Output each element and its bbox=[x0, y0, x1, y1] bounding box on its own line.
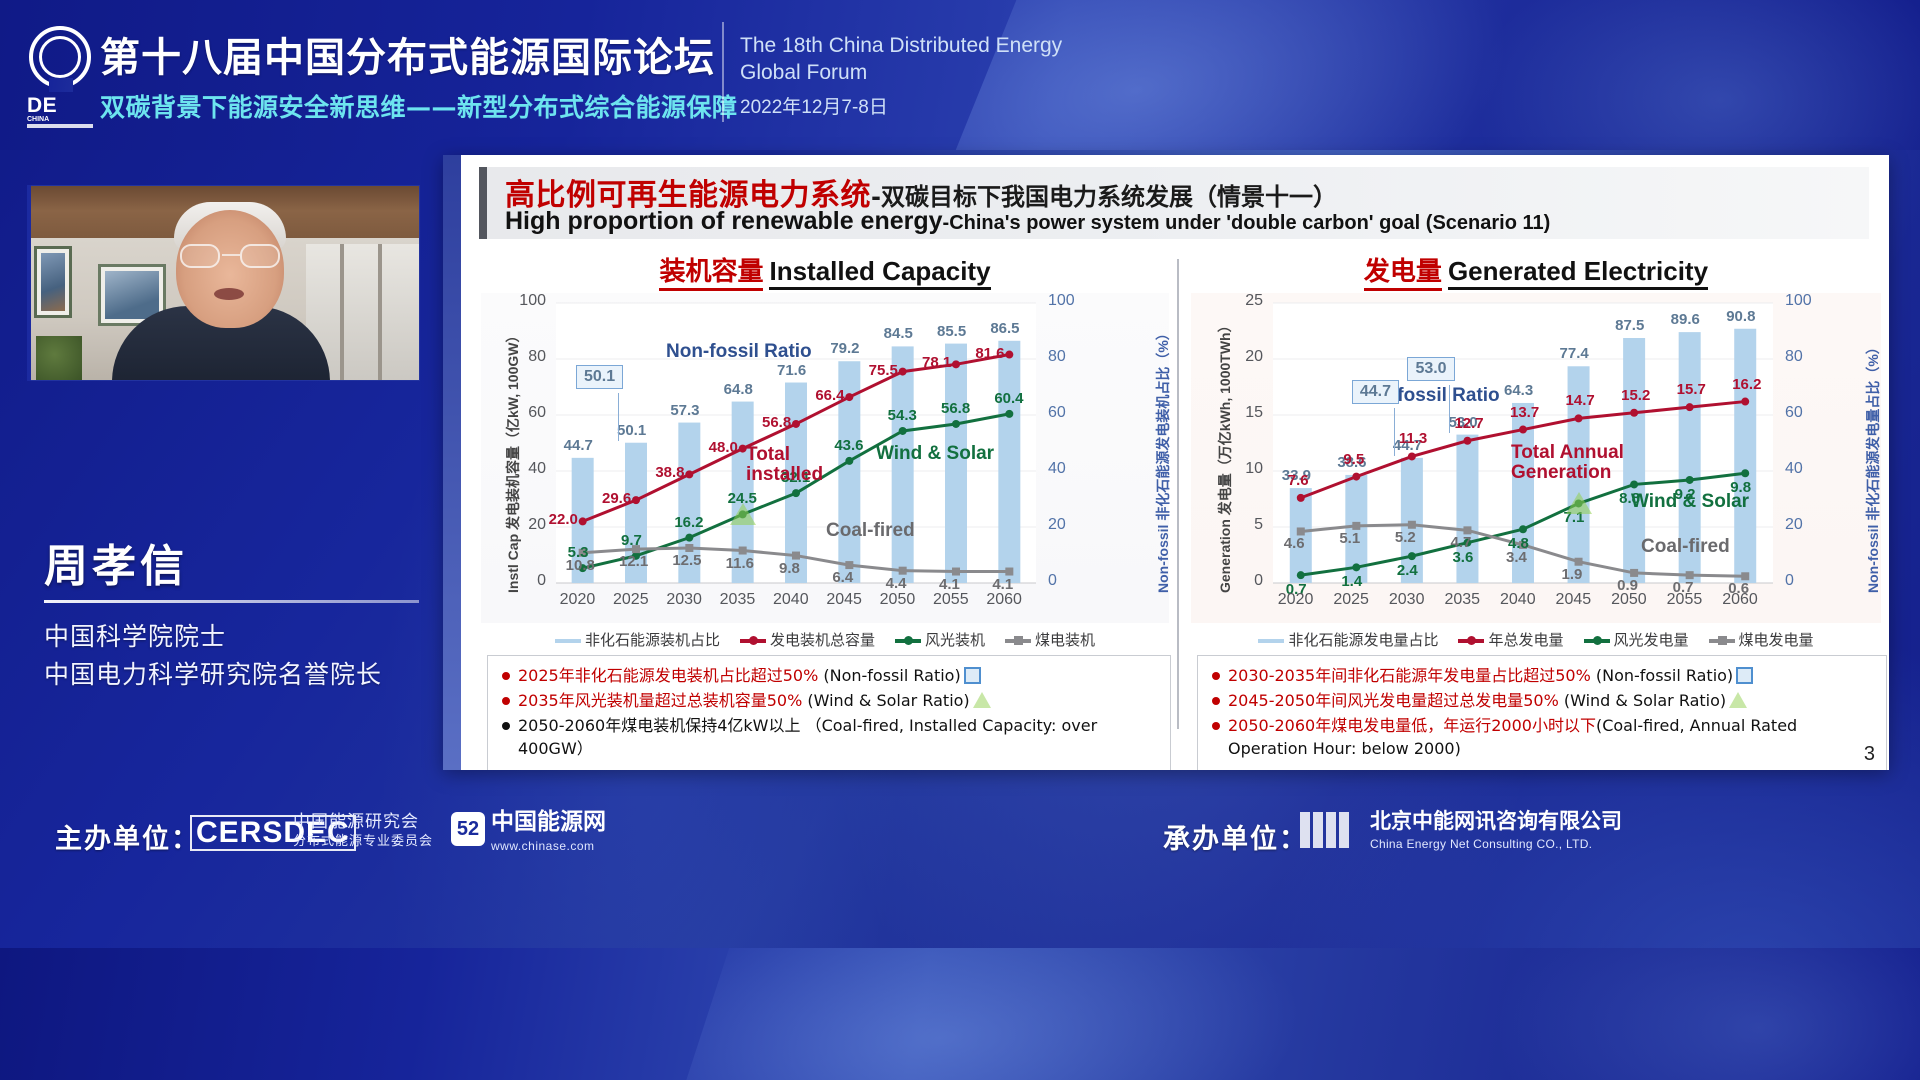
line-value-label: 43.6 bbox=[834, 437, 863, 454]
y-tick-right: 40 bbox=[1048, 460, 1082, 478]
presentation-slide[interactable]: 高比例可再生能源电力系统-双碳目标下我国电力系统发展（情景十一） High pr… bbox=[443, 155, 1889, 770]
bullet-item: 2025年非化石能源发电装机占比超过50% (Non-fossil Ratio) bbox=[498, 664, 1162, 687]
chart-title-en: Installed Capacity bbox=[769, 256, 990, 290]
organizer-name: 北京中能网讯咨询有限公司 China Energy Net Consulting… bbox=[1370, 810, 1622, 856]
bullet-text: 50% bbox=[767, 691, 803, 710]
x-tick: 2035 bbox=[720, 591, 756, 609]
bullet-item: 2050-2060年煤电装机保持4亿kW以上 （Coal-fired, Inst… bbox=[498, 714, 1162, 760]
x-tick: 2045 bbox=[1556, 591, 1592, 609]
slide-title-en: High proportion of renewable energy-Chin… bbox=[505, 207, 1550, 236]
legend-swatch bbox=[895, 639, 921, 643]
bullet-text: (Wind & Solar Ratio) bbox=[802, 691, 969, 710]
chinase-cn: 中国能源网 bbox=[491, 809, 606, 835]
callout-box: 44.7 bbox=[1352, 380, 1399, 404]
line-value-label: 22.0 bbox=[549, 511, 578, 528]
bar-value-label: 57.3 bbox=[670, 402, 699, 419]
line-value-label: 4.6 bbox=[1284, 535, 1305, 552]
line-value-label: 60.4 bbox=[994, 390, 1023, 407]
bar-value-label: 89.6 bbox=[1671, 311, 1700, 328]
line-value-label: 16.2 bbox=[674, 514, 703, 531]
legend-item[interactable]: 非化石能源发电量占比 bbox=[1258, 629, 1438, 650]
x-tick: 2020 bbox=[560, 591, 596, 609]
x-tick: 2060 bbox=[986, 591, 1022, 609]
line-value-label: 12.5 bbox=[672, 552, 701, 569]
line-value-label: 54.3 bbox=[888, 407, 917, 424]
legend-item[interactable]: 风光装机 bbox=[895, 629, 985, 650]
y-tick-right: 100 bbox=[1048, 292, 1082, 310]
bullet-text: 2050-2060年煤电装机保持4亿kW以上 （Coal-fired, Inst… bbox=[518, 716, 1097, 758]
chinase-logo-icon: 52 bbox=[451, 812, 485, 846]
line-value-label: 66.4 bbox=[815, 387, 844, 404]
bullet-text: 年运行2000小时以下 bbox=[1443, 716, 1596, 735]
bar-value-label: 50.1 bbox=[617, 422, 646, 439]
forum-logo-icon: DE CHINA bbox=[27, 20, 95, 128]
line-value-label: 15.7 bbox=[1677, 381, 1706, 398]
bar-value-label: 85.5 bbox=[937, 323, 966, 340]
y-axis-label-right-chart: Non-fossil 非化石能源发电量占比（%） bbox=[1863, 340, 1883, 593]
organizer-name-en: China Energy Net Consulting CO., LTD. bbox=[1370, 833, 1622, 856]
organizer-name-cn: 北京中能网讯咨询有限公司 bbox=[1370, 809, 1622, 833]
speaker-title-line-1: 中国科学院院士 bbox=[44, 618, 382, 656]
line-value-label: 13.7 bbox=[1510, 404, 1539, 421]
speaker-glasses-icon bbox=[180, 244, 282, 268]
slide-accent-bar bbox=[443, 155, 461, 770]
line-value-label: 15.2 bbox=[1621, 387, 1650, 404]
chart-title-cn: 装机容量 bbox=[659, 257, 763, 291]
speaker-mouth bbox=[214, 288, 244, 300]
bullet-text: 50% bbox=[1523, 691, 1559, 710]
y-axis-label-right-chart: Non-fossil 非化石能源发电装机占比（%） bbox=[1153, 326, 1173, 593]
line-value-label: 4.1 bbox=[939, 576, 960, 593]
legend-label: 发电装机总容量 bbox=[770, 631, 875, 649]
annotation-total-annual-gen: Total AnnualGeneration bbox=[1511, 443, 1624, 483]
line-value-label: 9.7 bbox=[621, 532, 642, 549]
callout-leader bbox=[618, 393, 619, 441]
speaker-titles: 中国科学院院士 中国电力科学研究院名誉院长 bbox=[44, 618, 382, 694]
forum-title-cn: 第十八届中国分布式能源国际论坛 bbox=[100, 25, 715, 83]
legend-item[interactable]: 年总发电量 bbox=[1458, 629, 1563, 650]
y-axis-label-left-chart: Generation 发电量（万亿kWh, 1000TWh） bbox=[1215, 318, 1235, 593]
slide-title-block: 高比例可再生能源电力系统-双碳目标下我国电力系统发展（情景十一） High pr… bbox=[479, 167, 1869, 239]
legend-swatch bbox=[1584, 639, 1610, 643]
x-tick: 2045 bbox=[826, 591, 862, 609]
bar-value-label: 87.5 bbox=[1615, 317, 1644, 334]
de-logo-sub: CHINA bbox=[27, 116, 93, 123]
line-value-label: 11.3 bbox=[1399, 430, 1427, 447]
y-tick-left: 25 bbox=[1229, 292, 1263, 310]
bullet-dot-icon bbox=[502, 722, 510, 730]
y-tick-right: 40 bbox=[1785, 460, 1819, 478]
speaker-divider bbox=[44, 600, 419, 603]
legend-label: 非化石能源发电量占比 bbox=[1288, 631, 1438, 649]
line-value-label: 5.2 bbox=[1395, 529, 1416, 546]
speaker-name: 周孝信 bbox=[44, 530, 188, 594]
legend-swatch bbox=[1458, 639, 1484, 643]
bullet-item: 2050-2060年煤电发电量低，年运行2000小时以下(Coal-fired,… bbox=[1208, 714, 1878, 760]
chart-plot-installed-capacity: 44.750.157.364.871.679.284.585.586.522.0… bbox=[481, 293, 1169, 623]
bullet-dot-icon bbox=[1212, 722, 1220, 730]
line-value-label: 4.4 bbox=[886, 575, 907, 592]
legend-swatch bbox=[1258, 639, 1284, 643]
organizer-label: 承办单位： bbox=[1163, 817, 1308, 856]
chart-title-en: Generated Electricity bbox=[1448, 256, 1708, 290]
line-value-label: 5.1 bbox=[1339, 530, 1360, 547]
chart-title-installed-capacity: 装机容量Installed Capacity bbox=[481, 251, 1169, 288]
speaker-video-feed[interactable] bbox=[27, 185, 420, 381]
y-axis-label-left-chart: Instl Cap 发电装机容量（亿kW, 100GW） bbox=[503, 329, 523, 593]
chart-legend-left: 非化石能源装机占比发电装机总容量风光装机煤电装机 bbox=[481, 629, 1169, 650]
line-value-label: 10.8 bbox=[566, 557, 595, 574]
slide-title-en-main: High proportion of renewable energy bbox=[505, 207, 943, 235]
y-tick-left: 100 bbox=[512, 292, 546, 310]
legend-swatch bbox=[1005, 639, 1031, 643]
forum-title-en: The 18th China Distributed Energy Global… bbox=[740, 32, 1100, 86]
bullet-text: 2030-2035年间非化石能源年发电量占比超过 bbox=[1228, 666, 1555, 685]
legend-triangle-icon bbox=[973, 692, 991, 708]
header-divider bbox=[722, 22, 724, 122]
bullet-text: 50% bbox=[1555, 666, 1591, 685]
bullet-text: 2025年非化石能源发电装机占比超过 bbox=[518, 666, 783, 685]
line-value-label: 3.4 bbox=[1506, 549, 1527, 566]
legend-swatch bbox=[1709, 639, 1735, 643]
line-value-label: 11.6 bbox=[726, 555, 754, 572]
line-value-label: 78.1 bbox=[922, 354, 951, 371]
chart-title-cn: 发电量 bbox=[1364, 257, 1442, 291]
cersdec-cn-line2: 分布式能源专业委员会 bbox=[293, 832, 433, 852]
video-picture-frame-1 bbox=[34, 246, 72, 318]
annotation-coal-fired: Coal-fired bbox=[826, 520, 915, 542]
bullet-text: (Non-fossil Ratio) bbox=[818, 666, 960, 685]
sponsor-footer bbox=[0, 948, 1920, 1080]
x-tick: 2030 bbox=[1389, 591, 1425, 609]
x-tick: 2025 bbox=[1333, 591, 1369, 609]
line-value-label: 6.4 bbox=[832, 569, 853, 586]
x-tick: 2050 bbox=[880, 591, 916, 609]
x-tick: 2040 bbox=[773, 591, 809, 609]
bar-value-label: 44.7 bbox=[564, 437, 593, 454]
line-value-label: 56.8 bbox=[941, 400, 970, 417]
bullet-dot-icon bbox=[1212, 672, 1220, 680]
legend-triangle-icon bbox=[1729, 692, 1747, 708]
y-tick-right: 20 bbox=[1785, 516, 1819, 534]
line-value-label: 16.2 bbox=[1732, 376, 1761, 393]
speaker-head bbox=[176, 210, 284, 328]
legend-swatch bbox=[555, 639, 581, 643]
line-value-label: 7.6 bbox=[1288, 472, 1309, 489]
line-value-label: 2.4 bbox=[1397, 562, 1418, 579]
legend-label: 煤电发电量 bbox=[1739, 631, 1814, 649]
chart-panel-generated-electricity: 发电量Generated Electricity 33.938.644.753.… bbox=[1191, 251, 1881, 751]
bullet-dot-icon bbox=[502, 672, 510, 680]
speaker-title-line-2: 中国电力科学研究院名誉院长 bbox=[44, 656, 382, 694]
cersdec-logo-cn: 中国能源研究会 分布式能源专业委员会 bbox=[293, 812, 433, 852]
slide-content: 高比例可再生能源电力系统-双碳目标下我国电力系统发展（情景十一） High pr… bbox=[461, 155, 1889, 770]
legend-item[interactable]: 风光发电量 bbox=[1584, 629, 1689, 650]
bullet-item: 2045-2050年间风光发电量超过总发电量50% (Wind & Solar … bbox=[1208, 689, 1878, 712]
y-tick-right: 60 bbox=[1048, 404, 1082, 422]
line-value-label: 4.7 bbox=[1450, 534, 1471, 551]
bar-value-label: 84.5 bbox=[884, 325, 913, 342]
annotation-total-installed: Totalinstalled bbox=[746, 445, 823, 485]
x-tick: 2050 bbox=[1611, 591, 1647, 609]
legend-label: 风光装机 bbox=[925, 631, 985, 649]
bullet-dot-icon bbox=[1212, 697, 1220, 705]
bar-value-label: 86.5 bbox=[990, 320, 1019, 337]
line-value-label: 14.7 bbox=[1566, 392, 1595, 409]
legend-label: 年总发电量 bbox=[1488, 631, 1563, 649]
y-tick-right: 100 bbox=[1785, 292, 1819, 310]
legend-label: 煤电装机 bbox=[1035, 631, 1095, 649]
legend-item[interactable]: 煤电发电量 bbox=[1709, 629, 1814, 650]
x-tick: 2035 bbox=[1444, 591, 1480, 609]
x-tick: 2060 bbox=[1722, 591, 1758, 609]
bullet-list-right: 2030-2035年间非化石能源年发电量占比超过50% (Non-fossil … bbox=[1197, 655, 1887, 770]
bullet-text: 2045-2050年间风光发电量超过总发电量 bbox=[1228, 691, 1523, 710]
forum-date: 2022年12月7-8日 bbox=[740, 92, 888, 119]
line-value-label: 12.7 bbox=[1454, 415, 1483, 432]
line-value-label: 56.8 bbox=[762, 414, 791, 431]
bar-value-label: 64.3 bbox=[1504, 382, 1533, 399]
y-tick-right: 80 bbox=[1048, 348, 1082, 366]
callout-leader bbox=[1449, 385, 1450, 433]
wind-solar-crossover-marker bbox=[730, 503, 756, 525]
annotation-wind-solar: Wind & Solar bbox=[876, 443, 994, 465]
bar-value-label: 77.4 bbox=[1560, 345, 1589, 362]
bullet-text: (Wind & Solar Ratio) bbox=[1559, 691, 1726, 710]
forum-subtitle-cn: 双碳背景下能源安全新思维——新型分布式综合能源保障 bbox=[100, 88, 738, 124]
line-value-label: 4.1 bbox=[992, 576, 1013, 593]
annotation-coal-fired: Coal-fired bbox=[1641, 536, 1730, 558]
chart-legend-right: 非化石能源发电量占比年总发电量风光发电量煤电发电量 bbox=[1191, 629, 1881, 650]
y-tick-right: 0 bbox=[1048, 572, 1082, 590]
video-left-border bbox=[27, 185, 31, 381]
line-value-label: 1.9 bbox=[1562, 566, 1583, 583]
x-tick: 2020 bbox=[1278, 591, 1314, 609]
panel-divider bbox=[1177, 259, 1179, 729]
line-value-label: 48.0 bbox=[709, 439, 738, 456]
x-tick: 2030 bbox=[666, 591, 702, 609]
line-value-label: 38.8 bbox=[655, 464, 684, 481]
annotation-non-fossil-ratio: Non-fossil Ratio bbox=[666, 341, 812, 363]
annotation-wind-solar: Wind & Solar bbox=[1631, 491, 1749, 513]
cersdec-cn-line1: 中国能源研究会 bbox=[293, 812, 419, 832]
bar-value-label: 71.6 bbox=[777, 362, 806, 379]
bar-value-label: 64.8 bbox=[724, 381, 753, 398]
legend-swatch bbox=[740, 639, 766, 643]
chart-plot-generated-electricity: 33.938.644.753.064.377.487.589.690.87.69… bbox=[1191, 293, 1881, 623]
x-tick: 2025 bbox=[613, 591, 649, 609]
line-value-label: 1.4 bbox=[1341, 573, 1362, 590]
event-header-banner: DE CHINA 第十八届中国分布式能源国际论坛 双碳背景下能源安全新思维——新… bbox=[0, 0, 1920, 150]
legend-label: 非化石能源装机占比 bbox=[585, 631, 720, 649]
y-tick-right: 0 bbox=[1785, 572, 1819, 590]
legend-item[interactable]: 非化石能源装机占比 bbox=[555, 629, 720, 650]
bullet-dot-icon bbox=[502, 697, 510, 705]
chart-panel-installed-capacity: 装机容量Installed Capacity 44.750.157.364.87… bbox=[481, 251, 1169, 751]
wind-solar-crossover-marker bbox=[1566, 492, 1592, 514]
bullet-item: 2030-2035年间非化石能源年发电量占比超过50% (Non-fossil … bbox=[1208, 664, 1878, 687]
line-value-label: 81.6 bbox=[975, 345, 1004, 362]
callout-leader bbox=[1394, 408, 1395, 456]
legend-square-icon bbox=[1736, 667, 1753, 684]
line-value-label: 75.5 bbox=[869, 362, 898, 379]
legend-item[interactable]: 煤电装机 bbox=[1005, 629, 1095, 650]
line-value-label: 12.1 bbox=[619, 553, 648, 570]
bullet-item: 2035年风光装机量超过总装机容量50% (Wind & Solar Ratio… bbox=[498, 689, 1162, 712]
bullet-text: 2035年风光装机量超过总装机容量 bbox=[518, 691, 767, 710]
bullet-text: (Non-fossil Ratio) bbox=[1591, 666, 1733, 685]
callout-box: 53.0 bbox=[1407, 357, 1454, 381]
bar-value-label: 79.2 bbox=[830, 340, 859, 357]
legend-label: 风光发电量 bbox=[1614, 631, 1689, 649]
legend-item[interactable]: 发电装机总容量 bbox=[740, 629, 875, 650]
chinase-url: www.chinase.com bbox=[491, 834, 606, 858]
x-tick: 2055 bbox=[1667, 591, 1703, 609]
x-tick: 2055 bbox=[933, 591, 969, 609]
y-tick-right: 20 bbox=[1048, 516, 1082, 534]
bar-value-label: 90.8 bbox=[1726, 308, 1755, 325]
de-logo-text: DE bbox=[27, 94, 57, 117]
chart-title-generated-electricity: 发电量Generated Electricity bbox=[1191, 251, 1881, 288]
chinase-logo-text: 中国能源网 www.chinase.com bbox=[491, 810, 606, 858]
slide-page-number: 3 bbox=[1864, 743, 1875, 766]
bullet-text: 2050-2060年煤电发电量低， bbox=[1228, 716, 1443, 735]
bullet-list-left: 2025年非化石能源发电装机占比超过50% (Non-fossil Ratio)… bbox=[487, 655, 1171, 770]
x-tick: 2040 bbox=[1500, 591, 1536, 609]
line-value-label: 9.5 bbox=[1343, 451, 1364, 468]
line-value-label: 29.6 bbox=[602, 490, 631, 507]
slide-title-en-rest: -China's power system under 'double carb… bbox=[943, 212, 1551, 234]
y-tick-right: 80 bbox=[1785, 348, 1819, 366]
line-value-label: 9.8 bbox=[779, 560, 800, 577]
bullet-text: 50% bbox=[783, 666, 819, 685]
host-label: 主办单位： bbox=[55, 817, 200, 856]
callout-box: 50.1 bbox=[576, 365, 623, 389]
organizer-bars-icon bbox=[1300, 812, 1360, 848]
video-plant bbox=[36, 336, 82, 381]
y-tick-right: 60 bbox=[1785, 404, 1819, 422]
legend-square-icon bbox=[964, 667, 981, 684]
